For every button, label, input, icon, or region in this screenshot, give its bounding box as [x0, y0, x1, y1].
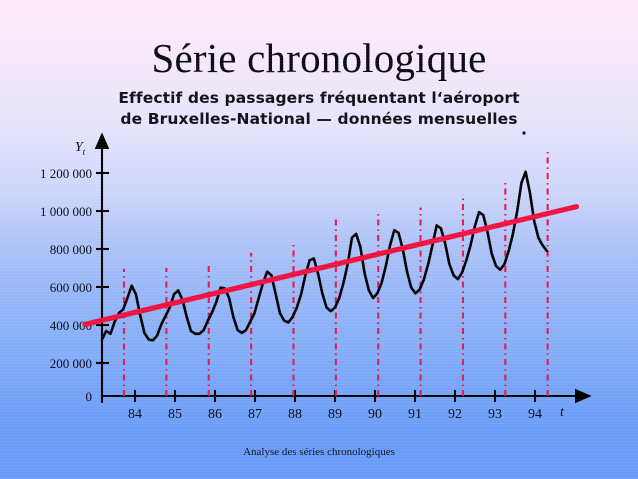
y-tick-label-600000: 600 000 — [50, 280, 92, 295]
x-tick-label-92: 92 — [448, 407, 462, 422]
x-tick-label-89: 89 — [328, 407, 342, 422]
y-tick-label-1200000: 1 200 000 — [40, 166, 92, 181]
x-tick-label-91: 91 — [408, 407, 422, 422]
slide-footer-caption: Analyse des séries chronologiques — [0, 446, 638, 458]
year-marker-group — [124, 152, 548, 396]
page-subtitle: Effectif des passagers fréquentant l‘aér… — [0, 88, 638, 130]
x-tick-label-86: 86 — [208, 407, 222, 422]
stray-dot — [522, 131, 525, 134]
slide-canvas: Série chronologique Effectif des passage… — [0, 0, 638, 479]
x-tick-label-90: 90 — [368, 407, 382, 422]
chart-axes — [102, 146, 578, 403]
y-tick-label-800000: 800 000 — [50, 242, 92, 257]
y-tick-label-1000000: 1 000 000 — [40, 204, 92, 219]
page-subtitle-line-1: Effectif des passagers fréquentant l‘aér… — [118, 89, 519, 107]
x-tick-label-85: 85 — [168, 407, 182, 422]
x-axis-label: t — [560, 405, 565, 420]
y-tick-label-200000: 200 000 — [50, 356, 92, 371]
x-tick-label-84: 84 — [128, 407, 142, 422]
y-axis-label: Yt — [75, 140, 86, 157]
passenger-series-line — [102, 172, 547, 341]
x-tick-label-93: 93 — [488, 407, 502, 422]
y-axis-ticks: 1 200 000 1 000 000 800 000 600 000 400 … — [40, 166, 109, 404]
time-series-chart: Yt t 1 200 000 1 000 000 800 000 600 000… — [0, 128, 638, 428]
page-title: Série chronologique — [0, 36, 638, 81]
x-tick-label-87: 87 — [248, 407, 262, 422]
page-subtitle-line-2: de Bruxelles-National — données mensuell… — [0, 109, 638, 130]
x-tick-label-94: 94 — [528, 407, 542, 422]
y-tick-label-0: 0 — [86, 389, 93, 404]
x-tick-label-88: 88 — [288, 407, 302, 422]
